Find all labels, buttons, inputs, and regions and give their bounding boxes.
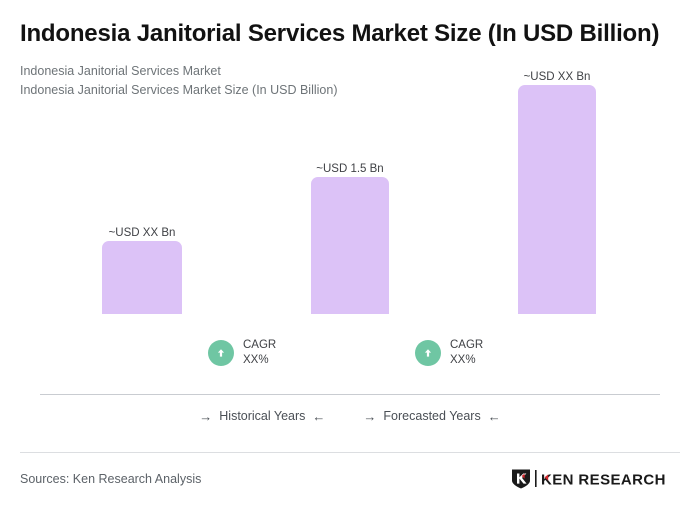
x-axis-baseline	[40, 394, 660, 395]
chart-footer: Sources: Ken Research Analysis KEN RESEA…	[20, 462, 680, 496]
sources-text: Sources: Ken Research Analysis	[20, 472, 201, 486]
cagr-annotation-1: CAGRXX%	[208, 338, 276, 367]
cagr-value-2: XX%	[450, 354, 476, 366]
cagr-label-1: CAGRXX%	[243, 338, 276, 367]
cagr-title-1: CAGR	[243, 339, 276, 351]
years-legend: → Historical Years ← → Forecasted Years …	[0, 409, 700, 423]
bar-2	[311, 177, 389, 314]
footer-divider	[20, 452, 680, 453]
cagr-value-1: XX%	[243, 354, 269, 366]
arrow-right-icon: →	[199, 410, 212, 423]
legend-item-forecasted-years: → Forecasted Years ←	[363, 409, 500, 423]
arrow-right-icon: →	[363, 410, 376, 423]
arrow-up-icon	[208, 340, 234, 366]
bar-value-label-1: ~USD XX Bn	[102, 226, 182, 241]
arrow-up-icon	[415, 340, 441, 366]
chart-plot-area: ~USD XX Bn CAGRXX% ~USD 1.5 Bn CAGRXX% ~	[0, 0, 700, 440]
arrow-left-icon: ←	[312, 410, 325, 423]
legend-item-historical-years: → Historical Years ←	[199, 409, 325, 423]
arrow-left-icon: ←	[488, 410, 501, 423]
cagr-annotation-2: CAGRXX%	[415, 338, 483, 367]
cagr-label-2: CAGRXX%	[450, 338, 483, 367]
bar-1	[102, 241, 182, 314]
legend-label-historical: Historical Years	[219, 409, 305, 423]
bar-3	[518, 85, 596, 314]
svg-text:KEN RESEARCH: KEN RESEARCH	[541, 472, 666, 489]
bar-value-label-3: ~USD XX Bn	[518, 70, 596, 85]
legend-label-forecasted: Forecasted Years	[383, 409, 480, 423]
logo-mark-icon: KEN RESEARCH	[510, 468, 680, 490]
ken-research-logo: KEN RESEARCH	[510, 468, 680, 490]
chart-page: Indonesia Janitorial Services Market Siz…	[0, 0, 700, 520]
cagr-title-2: CAGR	[450, 339, 483, 351]
bar-value-label-2: ~USD 1.5 Bn	[311, 162, 389, 177]
